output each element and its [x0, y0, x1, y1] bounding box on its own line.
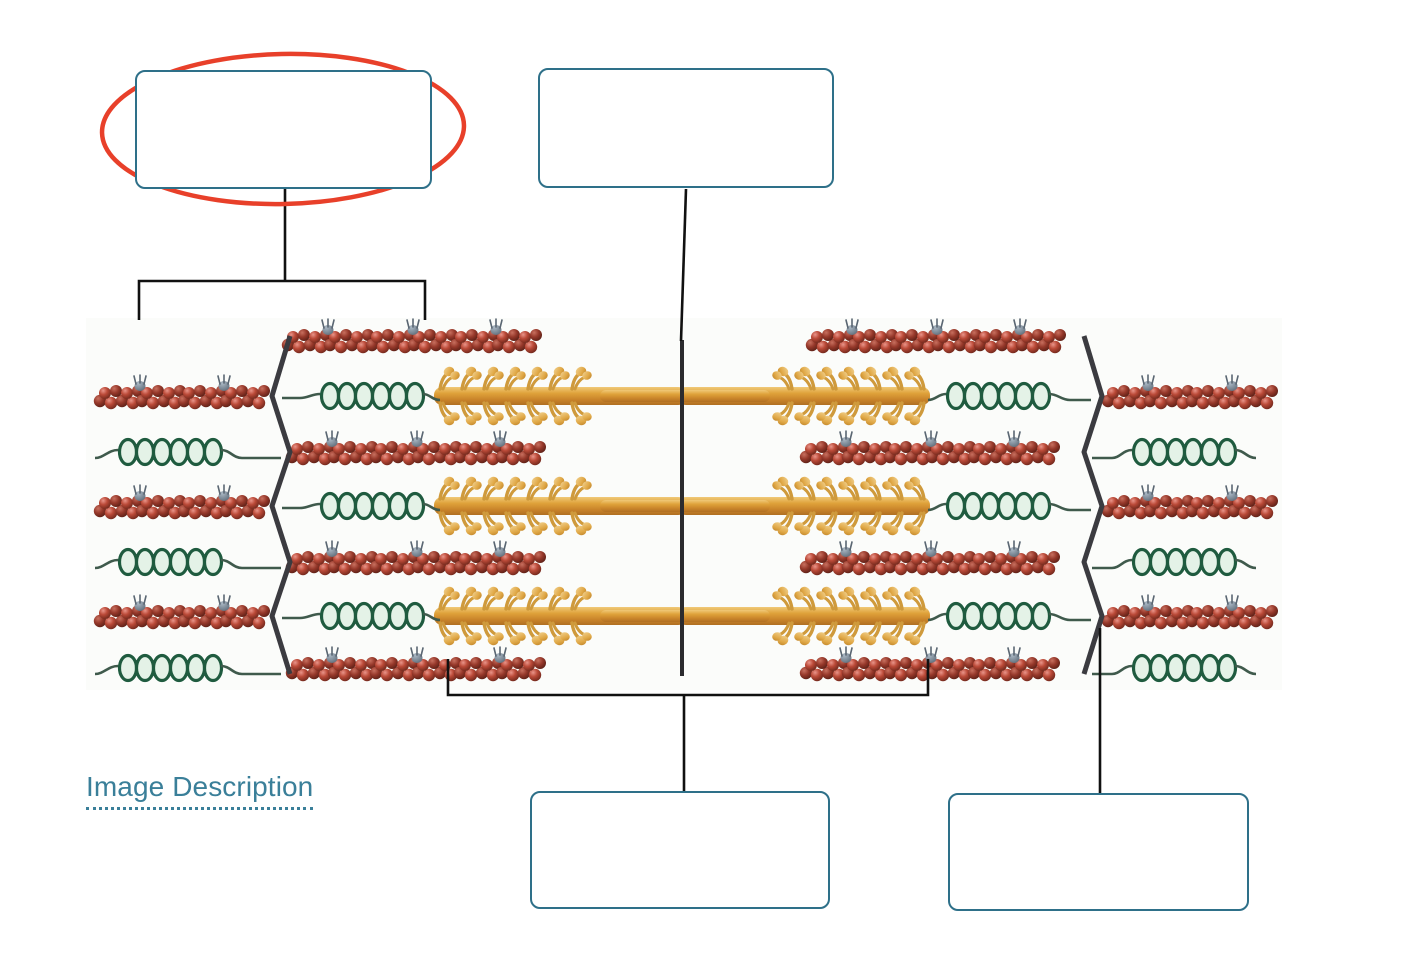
answer-box-3[interactable]	[530, 791, 830, 909]
answer-box-2[interactable]	[538, 68, 834, 188]
answer-box-1[interactable]	[135, 70, 432, 189]
page-root: Image Description	[0, 0, 1414, 972]
image-description-link[interactable]: Image Description	[86, 772, 313, 810]
answer-box-4[interactable]	[948, 793, 1249, 911]
